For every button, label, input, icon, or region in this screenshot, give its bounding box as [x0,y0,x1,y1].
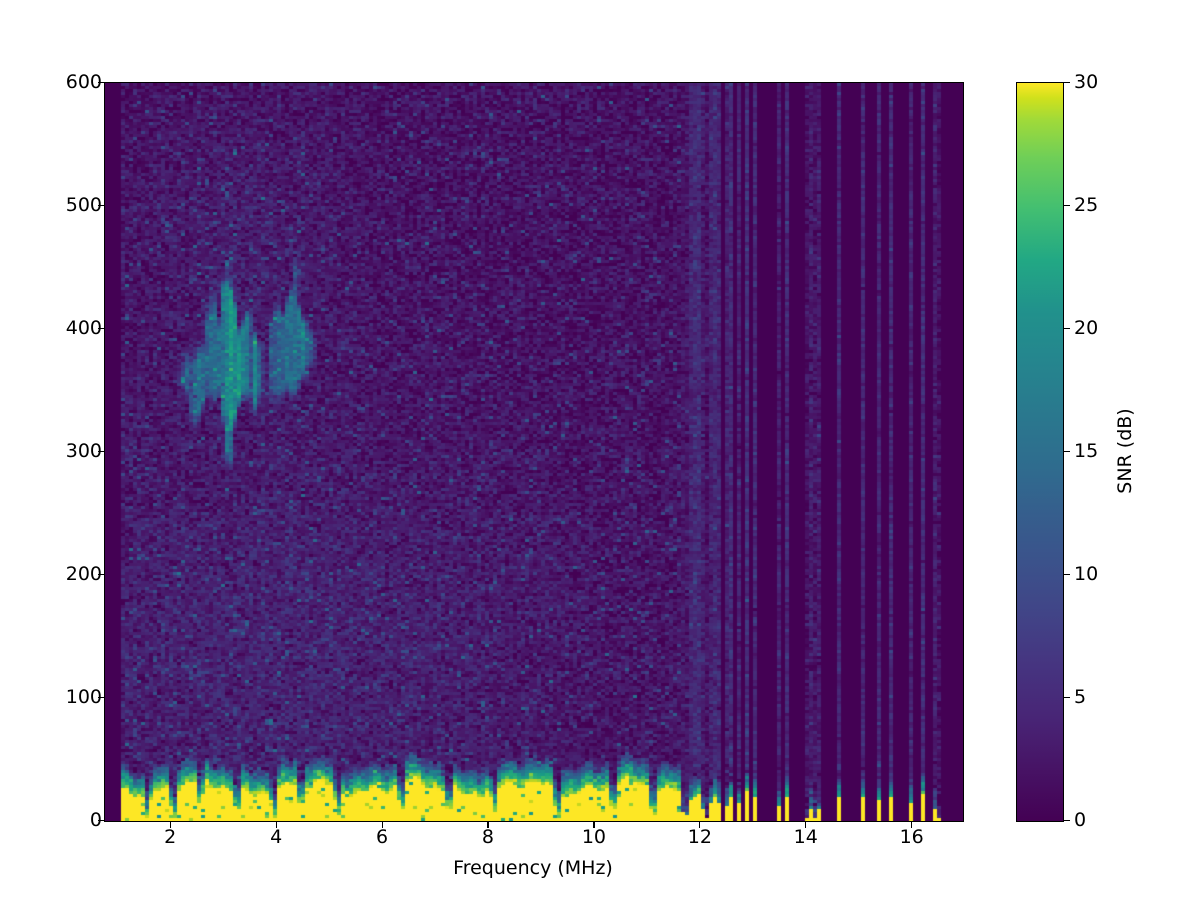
y-tick-label: 200 [42,565,102,584]
plot-area [104,82,964,822]
x-tick-mark [911,821,912,828]
colorbar-tick-mark [1063,451,1070,452]
y-tick-label: 100 [42,688,102,707]
x-tick-label: 16 [882,828,942,847]
y-tick-label: 0 [42,811,102,830]
y-tick-mark [98,820,105,821]
y-tick-label: 400 [42,319,102,338]
x-tick-mark [382,821,383,828]
colorbar-tick-label: 20 [1074,319,1098,338]
y-tick-mark [98,574,105,575]
x-tick-mark [699,821,700,828]
colorbar-tick-mark [1063,82,1070,83]
colorbar-tick-label: 30 [1074,73,1098,92]
colorbar-tick-label: 5 [1074,688,1086,707]
x-tick-label: 4 [246,828,306,847]
x-tick-label: 2 [140,828,200,847]
colorbar-tick-label: 10 [1074,565,1098,584]
x-axis-label: Frequency (MHz) [453,857,613,879]
colorbar-tick-label: 25 [1074,196,1098,215]
x-tick-mark [805,821,806,828]
x-tick-mark [276,821,277,828]
y-tick-label: 500 [42,196,102,215]
y-tick-label: 300 [42,442,102,461]
colorbar-label: SNR (dB) [1114,408,1136,493]
colorbar-tick-mark [1063,820,1070,821]
x-tick-mark [487,821,488,828]
colorbar [1016,82,1064,822]
x-tick-label: 8 [458,828,518,847]
colorbar-tick-mark [1063,328,1070,329]
x-tick-label: 14 [776,828,836,847]
y-tick-mark [98,451,105,452]
y-tick-label: 600 [42,73,102,92]
colorbar-tick-label: 0 [1074,811,1086,830]
y-tick-mark [98,697,105,698]
x-tick-label: 10 [564,828,624,847]
x-tick-label: 12 [670,828,730,847]
colorbar-tick-mark [1063,574,1070,575]
x-tick-mark [170,821,171,828]
colorbar-tick-mark [1063,697,1070,698]
x-tick-mark [593,821,594,828]
colorbar-tick-label: 15 [1074,442,1098,461]
ionogram-heatmap [105,83,963,821]
ionogram-figure: IRF Kiruna Ionosonde KI167 2025-10-15 22… [0,0,1200,900]
y-tick-mark [98,82,105,83]
x-tick-label: 6 [352,828,412,847]
y-tick-mark [98,205,105,206]
y-tick-mark [98,328,105,329]
colorbar-tick-mark [1063,205,1070,206]
